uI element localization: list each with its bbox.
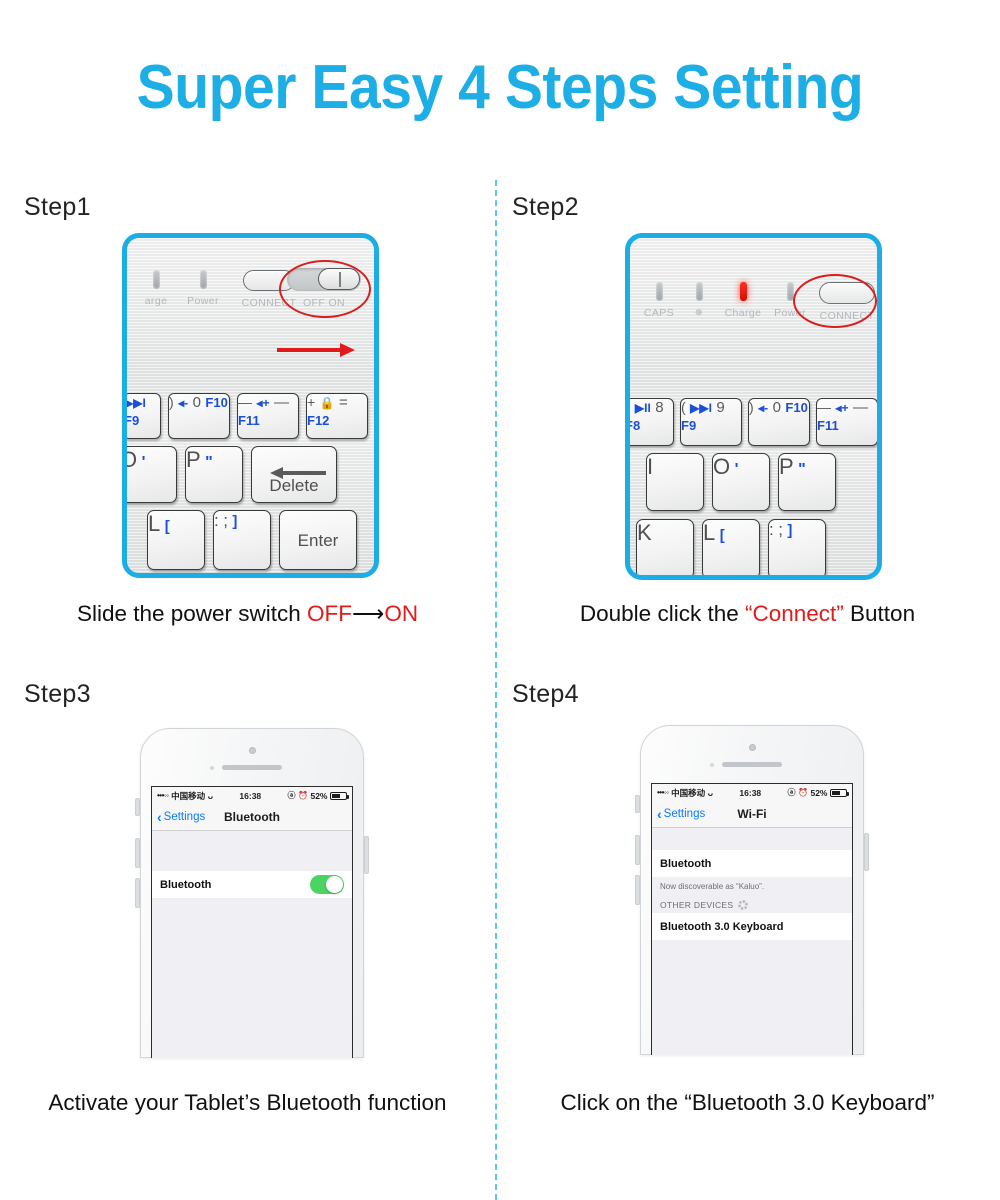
other-devices-label: OTHER DEVICES <box>660 900 733 910</box>
step1-letter-key-row: O ' P " Delete <box>122 446 337 503</box>
key-semicolon[interactable]: : ; ] <box>768 519 826 579</box>
charge-indicator: Charge <box>718 282 768 319</box>
key-semicolon[interactable]: : ; ] <box>213 510 271 570</box>
step2-function-key-row: * ▶II 8 F8 ( ▶▶I 9 F9 ) ◂- 0 F10 — ◂+ — … <box>625 398 878 446</box>
charge-indicator: arge <box>133 270 179 307</box>
wifi-icon: ᴗ <box>208 791 214 801</box>
key-p[interactable]: P " <box>185 446 243 503</box>
ios-status-bar: •••◦◦ 中国移动 ᴗ 16:38 ⓐ ⏰ 52% <box>652 784 852 801</box>
proximity-sensor-icon <box>210 766 214 770</box>
power-switch-label: OFF ON <box>287 297 361 309</box>
discoverable-note: Now discoverable as “Kaluo”. <box>652 877 852 894</box>
chevron-left-icon: ‹ <box>157 810 162 824</box>
status-right: ⓐ ⏰ 52% <box>288 790 347 801</box>
step2-letter-key-row: I O ' P " <box>646 453 836 511</box>
key-i[interactable]: I <box>646 453 704 511</box>
ios-status-bar: •••◦◦ 中国移动 ᴗ 16:38 ⓐ ⏰ 52% <box>152 787 352 804</box>
bluetooth-indicator: ✵ <box>680 282 718 319</box>
back-button[interactable]: ‹ Settings <box>652 807 705 821</box>
bluetooth-settings-list: Bluetooth Now discoverable as “Kaluo”. O… <box>652 828 852 940</box>
power-switch-group[interactable]: OFF ON <box>287 268 361 309</box>
other-devices-header: OTHER DEVICES <box>652 894 852 913</box>
key-enter[interactable]: Enter <box>279 510 357 570</box>
list-spacer <box>652 828 852 850</box>
earpiece-speaker <box>222 765 282 770</box>
page-title: Super Easy 4 Steps Setting <box>40 52 960 123</box>
mute-switch-button[interactable] <box>635 795 640 813</box>
key-f11[interactable]: — ◂+ — F11 <box>816 398 878 446</box>
key-o[interactable]: O ' <box>712 453 770 511</box>
charge-label: Charge <box>718 307 768 319</box>
list-spacer <box>152 831 352 871</box>
volume-up-button[interactable] <box>135 838 140 868</box>
settings-list: Bluetooth <box>152 831 352 898</box>
ios-nav-bar: ‹ Settings Bluetooth <box>152 804 352 831</box>
caption-off: OFF <box>307 601 352 626</box>
step4-label: Step4 <box>512 680 579 709</box>
back-button[interactable]: ‹ Settings <box>152 810 205 824</box>
step1-bottom-key-row: L [ : ; ] Enter <box>147 510 357 570</box>
power-button[interactable] <box>864 833 869 871</box>
key-f10[interactable]: ) ◂- 0 F10 <box>168 393 230 439</box>
bluetooth-icon: ✵ <box>680 307 718 319</box>
bluetooth-toggle[interactable] <box>310 875 344 894</box>
key-f8[interactable]: * ▶II 8 F8 <box>625 398 674 446</box>
connect-button-group[interactable]: CONNECT <box>812 282 882 322</box>
power-led <box>787 282 794 301</box>
step1-label: Step1 <box>24 193 91 222</box>
rotation-lock-icon: ⓐ <box>788 787 796 798</box>
volume-down-button[interactable] <box>635 875 640 905</box>
caps-indicator: CAPS <box>638 282 680 319</box>
front-camera-icon <box>249 747 256 754</box>
back-button-label: Settings <box>164 811 206 823</box>
device-name-label: Bluetooth 3.0 Keyboard <box>660 921 783 933</box>
key-k[interactable]: K <box>636 519 694 579</box>
caption-connect: “Connect” <box>745 601 844 626</box>
carrier-label: 中国移动 <box>671 787 705 799</box>
key-o[interactable]: O ' <box>122 446 177 503</box>
chevron-left-icon: ‹ <box>657 807 662 821</box>
key-delete[interactable]: Delete <box>251 446 337 503</box>
key-f12[interactable]: + 🔒 = F12 <box>306 393 368 439</box>
wifi-icon: ᴗ <box>708 788 714 798</box>
rotation-lock-icon: ⓐ <box>288 790 296 801</box>
vertical-divider <box>495 180 497 1200</box>
power-indicator: Power <box>179 270 227 307</box>
bluetooth-led <box>696 282 703 301</box>
carrier-label: 中国移动 <box>171 790 205 802</box>
status-left: •••◦◦ 中国移动 ᴗ <box>157 790 213 802</box>
power-label: Power <box>179 295 227 307</box>
connect-button[interactable] <box>819 282 875 304</box>
battery-percent-label: 52% <box>810 788 827 798</box>
caption-suffix: Button <box>844 601 915 626</box>
alarm-icon: ⏰ <box>298 791 308 800</box>
bluetooth-row[interactable]: Bluetooth <box>652 850 852 877</box>
power-led <box>200 270 207 289</box>
key-f11[interactable]: — ◂+ — F11 <box>237 393 299 439</box>
connect-label: CONNECT <box>812 310 882 322</box>
caps-label: CAPS <box>638 307 680 319</box>
charge-label: arge <box>133 295 179 307</box>
phone-screen: •••◦◦ 中国移动 ᴗ 16:38 ⓐ ⏰ 52% ‹ Settings Bl… <box>151 786 353 1058</box>
step3-phone-mockup: •••◦◦ 中国移动 ᴗ 16:38 ⓐ ⏰ 52% ‹ Settings Bl… <box>118 728 386 1058</box>
battery-percent-label: 52% <box>310 791 327 801</box>
step2-label: Step2 <box>512 193 579 222</box>
step2-indicator-strip: CAPS ✵ Charge Power CONNECT <box>638 282 882 322</box>
alarm-icon: ⏰ <box>798 788 808 797</box>
volume-up-button[interactable] <box>635 835 640 865</box>
step4-caption: Click on the “Bluetooth 3.0 Keyboard” <box>495 1090 1000 1116</box>
caption-text: Double click the <box>580 601 745 626</box>
key-l[interactable]: L [ <box>702 519 760 579</box>
step2-keyboard-photo: CAPS ✵ Charge Power CONNECT * ▶II 8 F8 ( <box>625 233 882 580</box>
signal-strength-icon: •••◦◦ <box>657 788 669 797</box>
clock-label: 16:38 <box>239 791 261 801</box>
arrow-head <box>340 343 355 357</box>
volume-down-button[interactable] <box>135 878 140 908</box>
device-row-bluetooth-keyboard[interactable]: Bluetooth 3.0 Keyboard <box>652 913 852 940</box>
power-button[interactable] <box>364 836 369 874</box>
step1-function-key-row: ▶▶I F9 ) ◂- 0 F10 — ◂+ — F11 + 🔒 = F12 <box>123 393 368 439</box>
step1-indicator-strip: arge Power CONNECT <box>133 270 311 309</box>
status-left: •••◦◦ 中国移动 ᴗ <box>657 787 713 799</box>
bluetooth-row-label: Bluetooth <box>660 858 711 870</box>
step3-label: Step3 <box>24 680 91 709</box>
signal-strength-icon: •••◦◦ <box>157 791 169 800</box>
key-f9[interactable]: ( ▶▶I 9 F9 <box>680 398 742 446</box>
power-indicator: Power <box>768 282 812 319</box>
battery-icon <box>330 792 347 800</box>
caps-led <box>656 282 663 301</box>
step2-bottom-key-row: K L [ : ; ] <box>636 519 826 579</box>
earpiece-speaker <box>722 762 782 767</box>
proximity-sensor-icon <box>710 763 714 767</box>
charge-led <box>740 282 747 301</box>
key-f10[interactable]: ) ◂- 0 F10 <box>748 398 810 446</box>
key-p[interactable]: P " <box>778 453 836 511</box>
power-switch-track[interactable] <box>287 268 361 291</box>
battery-icon <box>830 789 847 797</box>
bluetooth-row[interactable]: Bluetooth <box>152 871 352 898</box>
power-label: Power <box>768 307 812 319</box>
back-button-label: Settings <box>664 808 706 820</box>
step3-caption: Activate your Tablet’s Bluetooth functio… <box>0 1090 495 1116</box>
key-l[interactable]: L [ <box>147 510 205 570</box>
bluetooth-row-label: Bluetooth <box>160 879 211 891</box>
annotation-arrow-slide-direction <box>277 343 355 357</box>
power-switch-knob[interactable] <box>318 268 360 290</box>
arrow-shaft <box>277 348 341 352</box>
front-camera-icon <box>749 744 756 751</box>
caption-arrow: ⟶ <box>352 601 384 626</box>
loading-spinner-icon <box>738 900 748 910</box>
charge-led <box>153 270 160 289</box>
step1-keyboard-photo: arge Power CONNECT OFF ON ▶▶I F9 ) ◂- <box>122 233 379 578</box>
step2-caption: Double click the “Connect” Button <box>495 601 1000 627</box>
ios-nav-bar: ‹ Settings Wi-Fi <box>652 801 852 828</box>
clock-label: 16:38 <box>739 788 761 798</box>
step1-caption: Slide the power switch OFF⟶ON <box>0 601 495 627</box>
phone-screen: •••◦◦ 中国移动 ᴗ 16:38 ⓐ ⏰ 52% ‹ Settings Wi… <box>651 783 853 1055</box>
caption-on: ON <box>384 601 418 626</box>
status-right: ⓐ ⏰ 52% <box>788 787 847 798</box>
step4-phone-mockup: •••◦◦ 中国移动 ᴗ 16:38 ⓐ ⏰ 52% ‹ Settings Wi… <box>618 725 886 1055</box>
mute-switch-button[interactable] <box>135 798 140 816</box>
caption-text: Slide the power switch <box>77 601 307 626</box>
key-f9[interactable]: ▶▶I F9 <box>123 393 161 439</box>
